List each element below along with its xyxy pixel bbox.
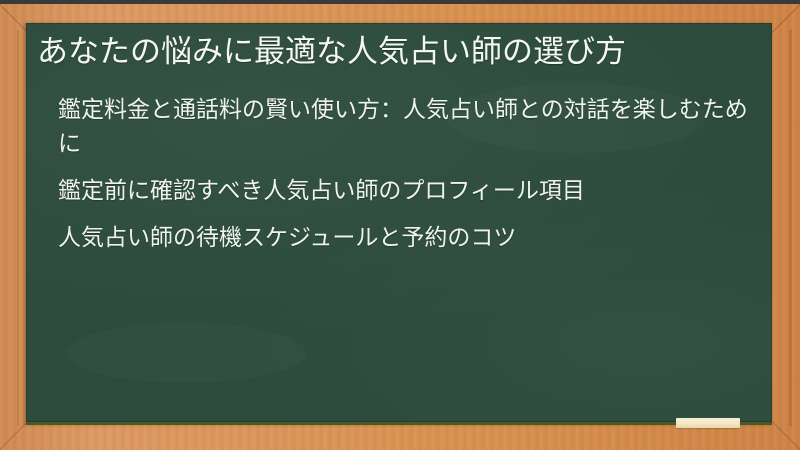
frame-grain-right [789, 30, 792, 426]
list-item: 鑑定料金と通話料の賢い使い方：人気占い師との対話を楽しむために [34, 92, 764, 160]
board-content: あなたの悩みに最適な人気占い師の選び方 鑑定料金と通話料の賢い使い方：人気占い師… [26, 23, 772, 425]
page-title: あなたの悩みに最適な人気占い師の選び方 [34, 31, 764, 72]
chalkboard: あなたの悩みに最適な人気占い師の選び方 鑑定料金と通話料の賢い使い方：人気占い師… [26, 23, 772, 425]
topic-list: 鑑定料金と通話料の賢い使い方：人気占い師との対話を楽しむために 鑑定前に確認すべ… [34, 92, 764, 254]
list-item: 鑑定前に確認すべき人気占い師のプロフィール項目 [34, 173, 764, 207]
slide-canvas: あなたの悩みに最適な人気占い師の選び方 鑑定料金と通話料の賢い使い方：人気占い師… [0, 0, 800, 450]
frame-mitre-top-right [767, 4, 800, 37]
chalk-piece-icon [676, 418, 740, 428]
list-item: 人気占い師の待機スケジュールと予約のコツ [34, 220, 764, 254]
frame-mitre-bottom-right [767, 417, 800, 450]
frame-grain-left [17, 30, 19, 426]
